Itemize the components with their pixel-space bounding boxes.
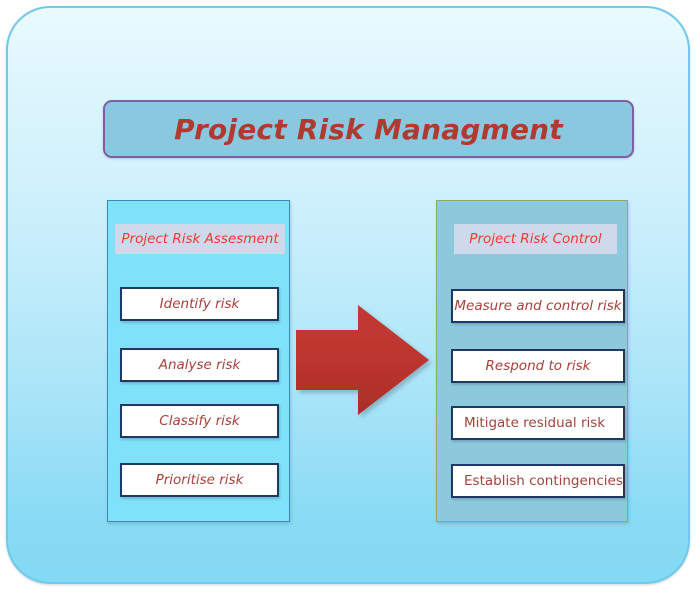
column-project-risk-assessment: Project Risk Assesment Identify risk Ana… (107, 200, 290, 522)
diagram-title-banner: Project Risk Managment (103, 100, 634, 158)
list-item-label: Respond to risk (453, 358, 623, 374)
list-item-mitigate-residual-risk[interactable]: Mitigate residual risk (451, 406, 625, 440)
list-item-label: Establish contingencies (453, 473, 623, 489)
list-item-classify-risk[interactable]: Classify risk (120, 404, 279, 438)
list-item-label: Analyse risk (122, 357, 277, 373)
page-title: Project Risk Managment (174, 113, 563, 146)
column-header-control: Project Risk Control (454, 224, 617, 254)
column-header-label: Project Risk Assesment (121, 231, 278, 247)
list-item-identify-risk[interactable]: Identify risk (120, 287, 279, 321)
list-item-analyse-risk[interactable]: Analyse risk (120, 348, 279, 382)
list-item-label: Classify risk (122, 413, 277, 429)
diagram-canvas: Project Risk Managment Project Risk Asse… (6, 6, 690, 584)
list-item-measure-and-control-risk[interactable]: Measure and control risk (451, 289, 625, 323)
list-item-label: Prioritise risk (122, 472, 277, 488)
list-item-establish-contingencies[interactable]: Establish contingencies (451, 464, 625, 498)
column-project-risk-control: Project Risk Control Measure and control… (436, 200, 628, 522)
list-item-label: Mitigate residual risk (453, 415, 623, 431)
list-item-respond-to-risk[interactable]: Respond to risk (451, 349, 625, 383)
right-arrow-icon (296, 305, 436, 419)
column-header-assessment: Project Risk Assesment (115, 224, 285, 254)
list-item-prioritise-risk[interactable]: Prioritise risk (120, 463, 279, 497)
list-item-label: Identify risk (122, 296, 277, 312)
column-header-label: Project Risk Control (469, 231, 601, 247)
list-item-label: Measure and control risk (453, 298, 623, 314)
